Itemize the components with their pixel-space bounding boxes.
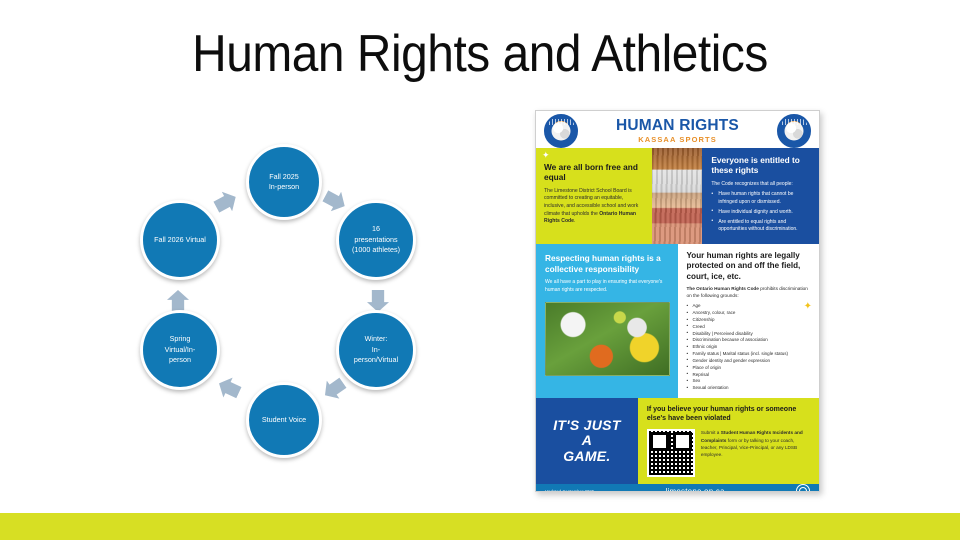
cycle-node-presentations[interactable]: 16 presentations (1000 athletes) xyxy=(336,200,416,280)
node-line-1: Fall 2026 Virtual xyxy=(154,235,206,245)
list-item: Creed xyxy=(687,324,812,331)
node-line-1: Winter: xyxy=(354,334,398,344)
list-item: Ancestry, colour, race xyxy=(687,310,812,317)
node-line-2: In- xyxy=(354,345,398,355)
cycle-arrow-right xyxy=(367,290,389,312)
cycle-node-student-voice[interactable]: Student Voice xyxy=(246,382,322,458)
kassaa-logo-icon xyxy=(544,114,578,148)
panel-complaints: If you believe your human rights or some… xyxy=(638,398,819,484)
game-line-2: A xyxy=(553,433,620,449)
panel-legally-protected: ✦ Your human rights are legally protecte… xyxy=(678,244,820,398)
cycle-arrow-bottom-right xyxy=(319,374,350,405)
list-item: Gender identity and gender expression xyxy=(687,358,812,365)
complaint-heading: If you believe your human rights or some… xyxy=(647,405,811,423)
cycle-diagram: Fall 2025 In-person 16 presentations (10… xyxy=(118,142,458,462)
poster-header: HUMAN RIGHTS KASSAA SPORTS xyxy=(536,111,819,148)
sparkle-icon: ✦ xyxy=(542,151,550,160)
poster-row-middle: Respecting human rights is a collective … xyxy=(536,244,819,398)
poster-row-top: ✦ We are all born free and equal The Lim… xyxy=(536,148,819,244)
list-item: Sex xyxy=(687,378,812,385)
page-title: Human Rights and Athletics xyxy=(38,26,921,83)
panel-entitled: Everyone is entitled to these rights The… xyxy=(702,148,819,244)
poster-footer: Updated September 2025 limestone.on.ca xyxy=(536,484,819,492)
list-item: Reprisal xyxy=(687,372,812,379)
game-line-1: IT'S JUST xyxy=(553,418,620,434)
list-item: Family status | Marital status (incl. si… xyxy=(687,351,812,358)
cycle-arrow-top-left xyxy=(211,187,241,217)
list-item: Disability | Perceived disability xyxy=(687,331,812,338)
node-line-2: Virtual/In- xyxy=(165,345,196,355)
list-item: Discrimination because of association xyxy=(687,337,812,344)
list-item: Age xyxy=(687,303,812,310)
list-item: Have human rights that cannot be infring… xyxy=(711,191,811,207)
complaint-body: Submit a Student Human Rights Incidents … xyxy=(701,429,811,458)
cycle-node-fall-2025[interactable]: Fall 2025 In-person xyxy=(246,144,322,220)
panel-born-free: ✦ We are all born free and equal The Lim… xyxy=(536,148,652,244)
list-item: Have individual dignity and worth. xyxy=(711,209,811,217)
node-line-3: (1000 athletes) xyxy=(352,245,400,255)
footer-updated-date: Updated September 2025 xyxy=(545,489,594,492)
node-line-1: Spring xyxy=(165,334,196,344)
poster-row-bottom: IT'S JUST A GAME. If you believe your hu… xyxy=(536,398,819,484)
protected-heading: Your human rights are legally protected … xyxy=(687,251,812,282)
node-line-1: Fall 2025 xyxy=(269,172,299,182)
cycle-node-fall-2026[interactable]: Fall 2026 Virtual xyxy=(140,200,220,280)
node-line-3: person/Virtual xyxy=(354,355,398,365)
human-rights-poster[interactable]: HUMAN RIGHTS KASSAA SPORTS ✦ We are all … xyxy=(535,110,820,492)
entitled-bullet-list: Have human rights that cannot be infring… xyxy=(711,191,811,234)
collective-body: We all have a part to play in ensuring t… xyxy=(545,279,670,295)
kassaa-logo-icon xyxy=(777,114,811,148)
list-item: Citizenship xyxy=(687,317,812,324)
footer-url: limestone.on.ca xyxy=(666,487,725,492)
poster-subtitle: KASSAA SPORTS xyxy=(578,135,777,144)
cycle-node-winter[interactable]: Winter: In- person/Virtual xyxy=(336,310,416,390)
node-line-1: Student Voice xyxy=(262,415,306,425)
athletics-photo xyxy=(652,148,702,244)
cycle-arrow-top-right xyxy=(320,186,350,216)
panel-its-just-a-game: IT'S JUST A GAME. xyxy=(536,398,638,484)
list-item: Sexual orientation xyxy=(687,385,812,392)
qr-code[interactable] xyxy=(647,429,695,477)
born-free-body-post: . xyxy=(574,218,575,224)
cycle-node-spring[interactable]: Spring Virtual/In- person xyxy=(140,310,220,390)
entitled-heading: Everyone is entitled to these rights xyxy=(711,155,811,176)
born-free-body: The Limestone District School Board is c… xyxy=(544,188,644,226)
complaint-body-pre: Submit a xyxy=(701,430,721,435)
node-line-2: presentations xyxy=(352,235,400,245)
node-line-1: 16 xyxy=(352,224,400,234)
list-item: Ethnic origin xyxy=(687,344,812,351)
protected-intro-bold: The Ontario Human Rights Code xyxy=(687,286,759,291)
cycle-arrow-bottom-left xyxy=(214,373,243,402)
born-free-heading: We are all born free and equal xyxy=(544,162,644,183)
game-line-3: GAME. xyxy=(553,449,620,465)
slide-accent-bar xyxy=(0,513,960,540)
ldsb-logo-mark-icon xyxy=(796,484,810,492)
list-item: Are entitled to equal rights and opportu… xyxy=(711,219,811,235)
entitled-intro: The Code recognizes that all people: xyxy=(711,181,811,189)
collective-heading: Respecting human rights is a collective … xyxy=(545,253,670,274)
poster-title: HUMAN RIGHTS xyxy=(578,118,777,134)
list-item: Place of origin xyxy=(687,365,812,372)
sports-equipment-photo xyxy=(545,302,670,376)
grounds-list: Age Ancestry, colour, race Citizenship C… xyxy=(687,303,812,392)
panel-collective-responsibility: Respecting human rights is a collective … xyxy=(536,244,678,398)
node-line-3: person xyxy=(165,355,196,365)
protected-intro: The Ontario Human Rights Code prohibits … xyxy=(687,285,812,300)
node-line-2: In-person xyxy=(269,182,299,192)
cycle-arrow-left xyxy=(167,290,189,312)
